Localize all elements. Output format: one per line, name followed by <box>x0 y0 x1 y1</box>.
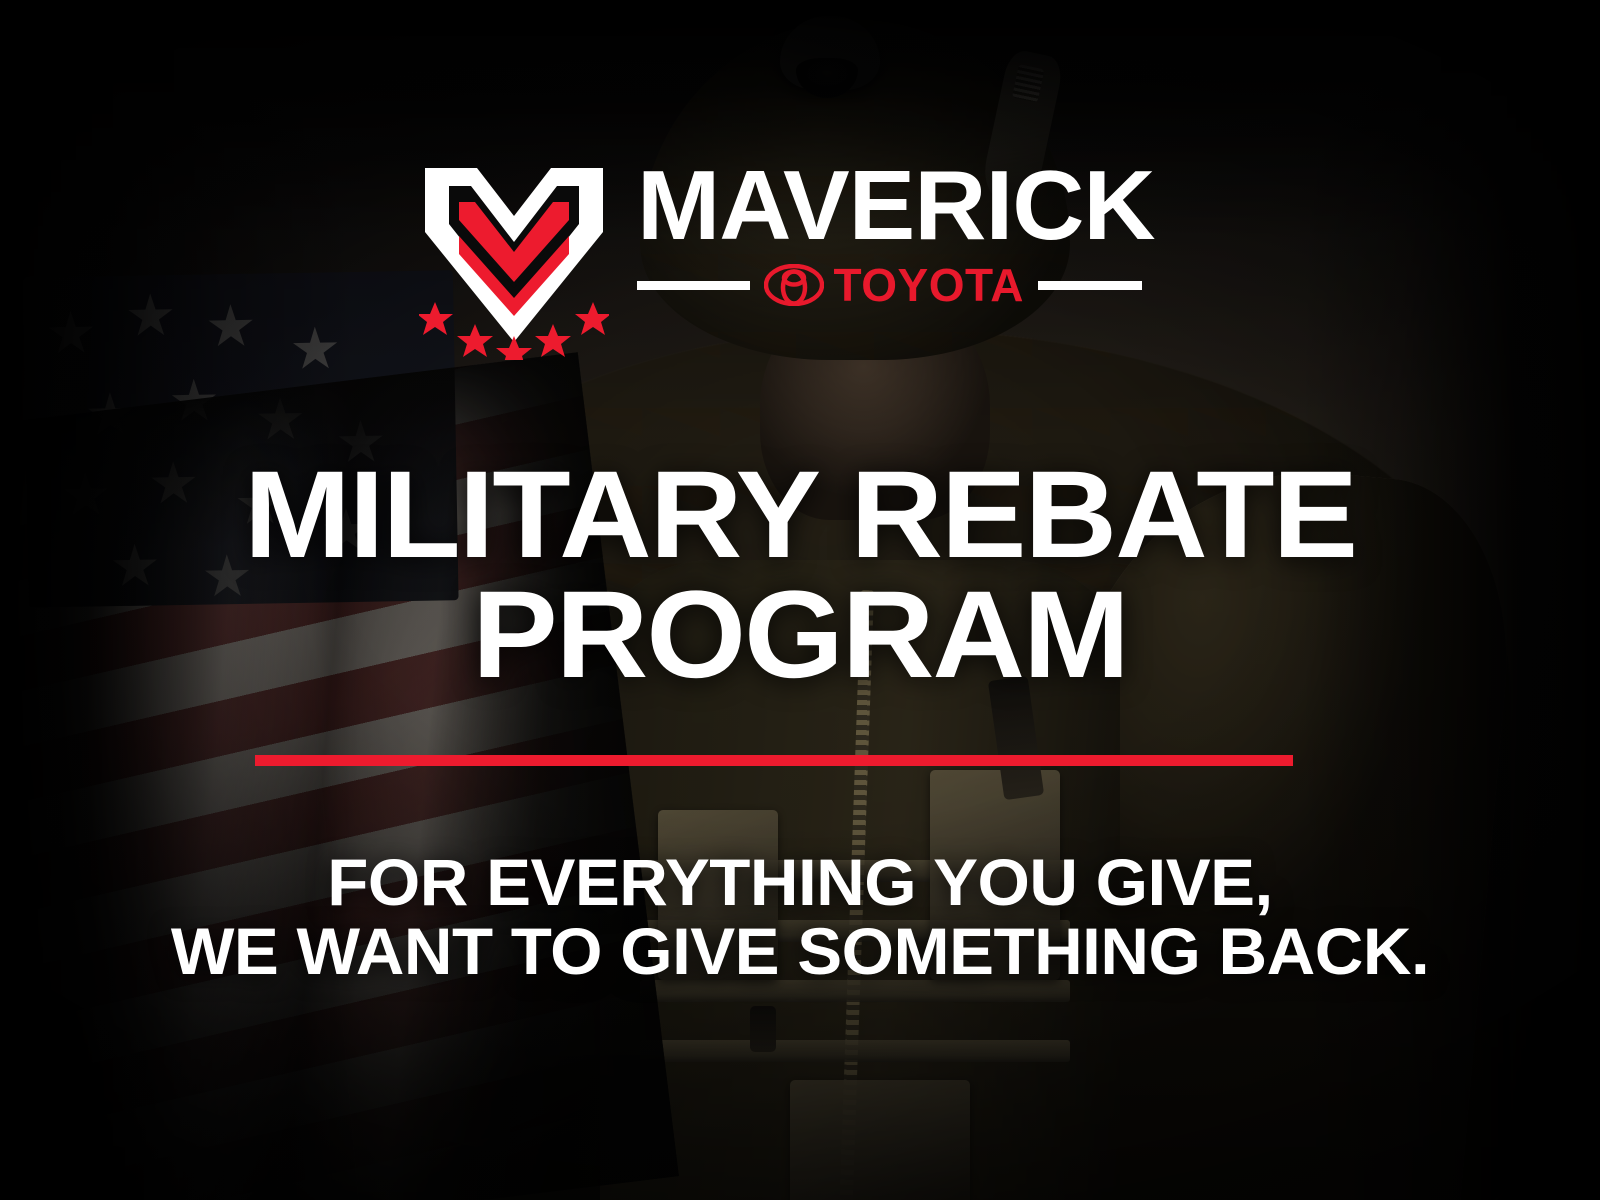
headline-line-1: MILITARY REBATE <box>0 455 1600 575</box>
tagline: FOR EVERYTHING YOU GIVE, WE WANT TO GIVE… <box>0 848 1600 985</box>
red-divider-rule <box>255 755 1293 766</box>
emblem-star <box>535 324 571 357</box>
emblem-star <box>496 336 532 360</box>
emblem-star <box>575 302 609 335</box>
brand-logo-lockup[interactable]: MAVERICK TOYOTA <box>0 160 1600 360</box>
lockup-rule-left <box>637 281 750 290</box>
emblem-star <box>457 324 493 357</box>
headline-line-2: PROGRAM <box>0 575 1600 695</box>
tagline-line-1: FOR EVERYTHING YOU GIVE, <box>0 848 1600 917</box>
toyota-ellipse-icon <box>764 264 824 306</box>
banner-content: MAVERICK TOYOTA MILITAR <box>0 0 1600 1200</box>
lockup-rule-right <box>1038 281 1142 290</box>
page-title: MILITARY REBATE PROGRAM <box>0 455 1600 696</box>
toyota-lockup-row: TOYOTA <box>637 262 1182 308</box>
maverick-chevron-shield-emblem <box>419 160 609 360</box>
toyota-logo: TOYOTA <box>764 262 1024 308</box>
brand-name: MAVERICK <box>637 160 1193 250</box>
emblem-star <box>419 302 453 335</box>
brand-wordmark: MAVERICK TOYOTA <box>637 160 1182 308</box>
tagline-line-2: WE WANT TO GIVE SOMETHING BACK. <box>0 917 1600 986</box>
promotional-banner: MAVERICK TOYOTA MILITAR <box>0 0 1600 1200</box>
toyota-wordmark: TOYOTA <box>834 262 1024 308</box>
